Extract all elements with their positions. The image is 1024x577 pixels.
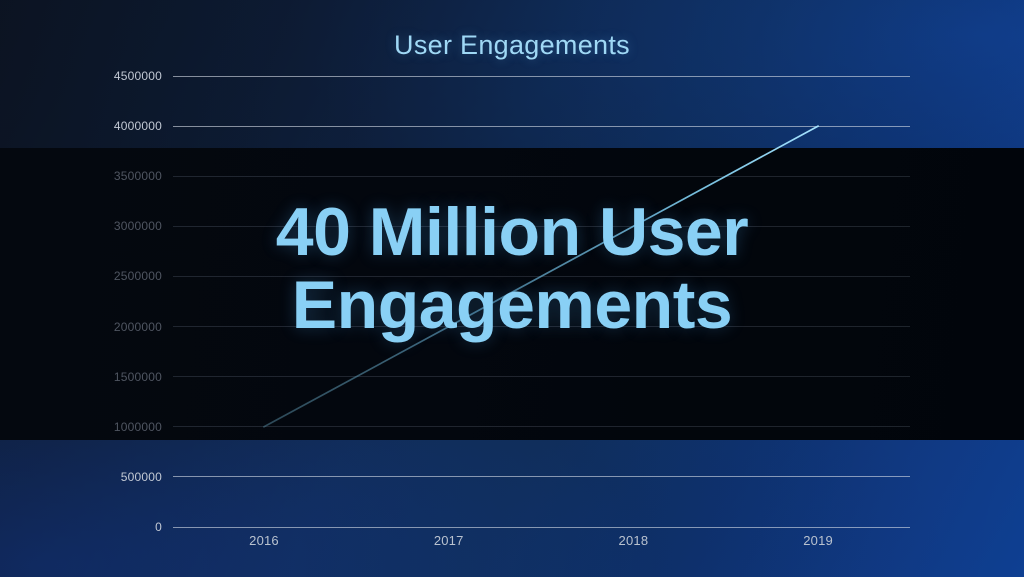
overlay-headline-line-1: 40 Million User [0,196,1024,269]
overlay-headline: 40 Million User Engagements [0,196,1024,343]
overlay-headline-line-2: Engagements [0,269,1024,342]
chart-title: User Engagements [0,30,1024,61]
x-axis-label: 2018 [619,533,649,548]
x-axis-label: 2017 [434,533,464,548]
x-axis-label: 2016 [249,533,279,548]
slide-canvas: 0500000100000015000002000000250000030000… [0,0,1024,577]
x-axis-label: 2019 [803,533,833,548]
